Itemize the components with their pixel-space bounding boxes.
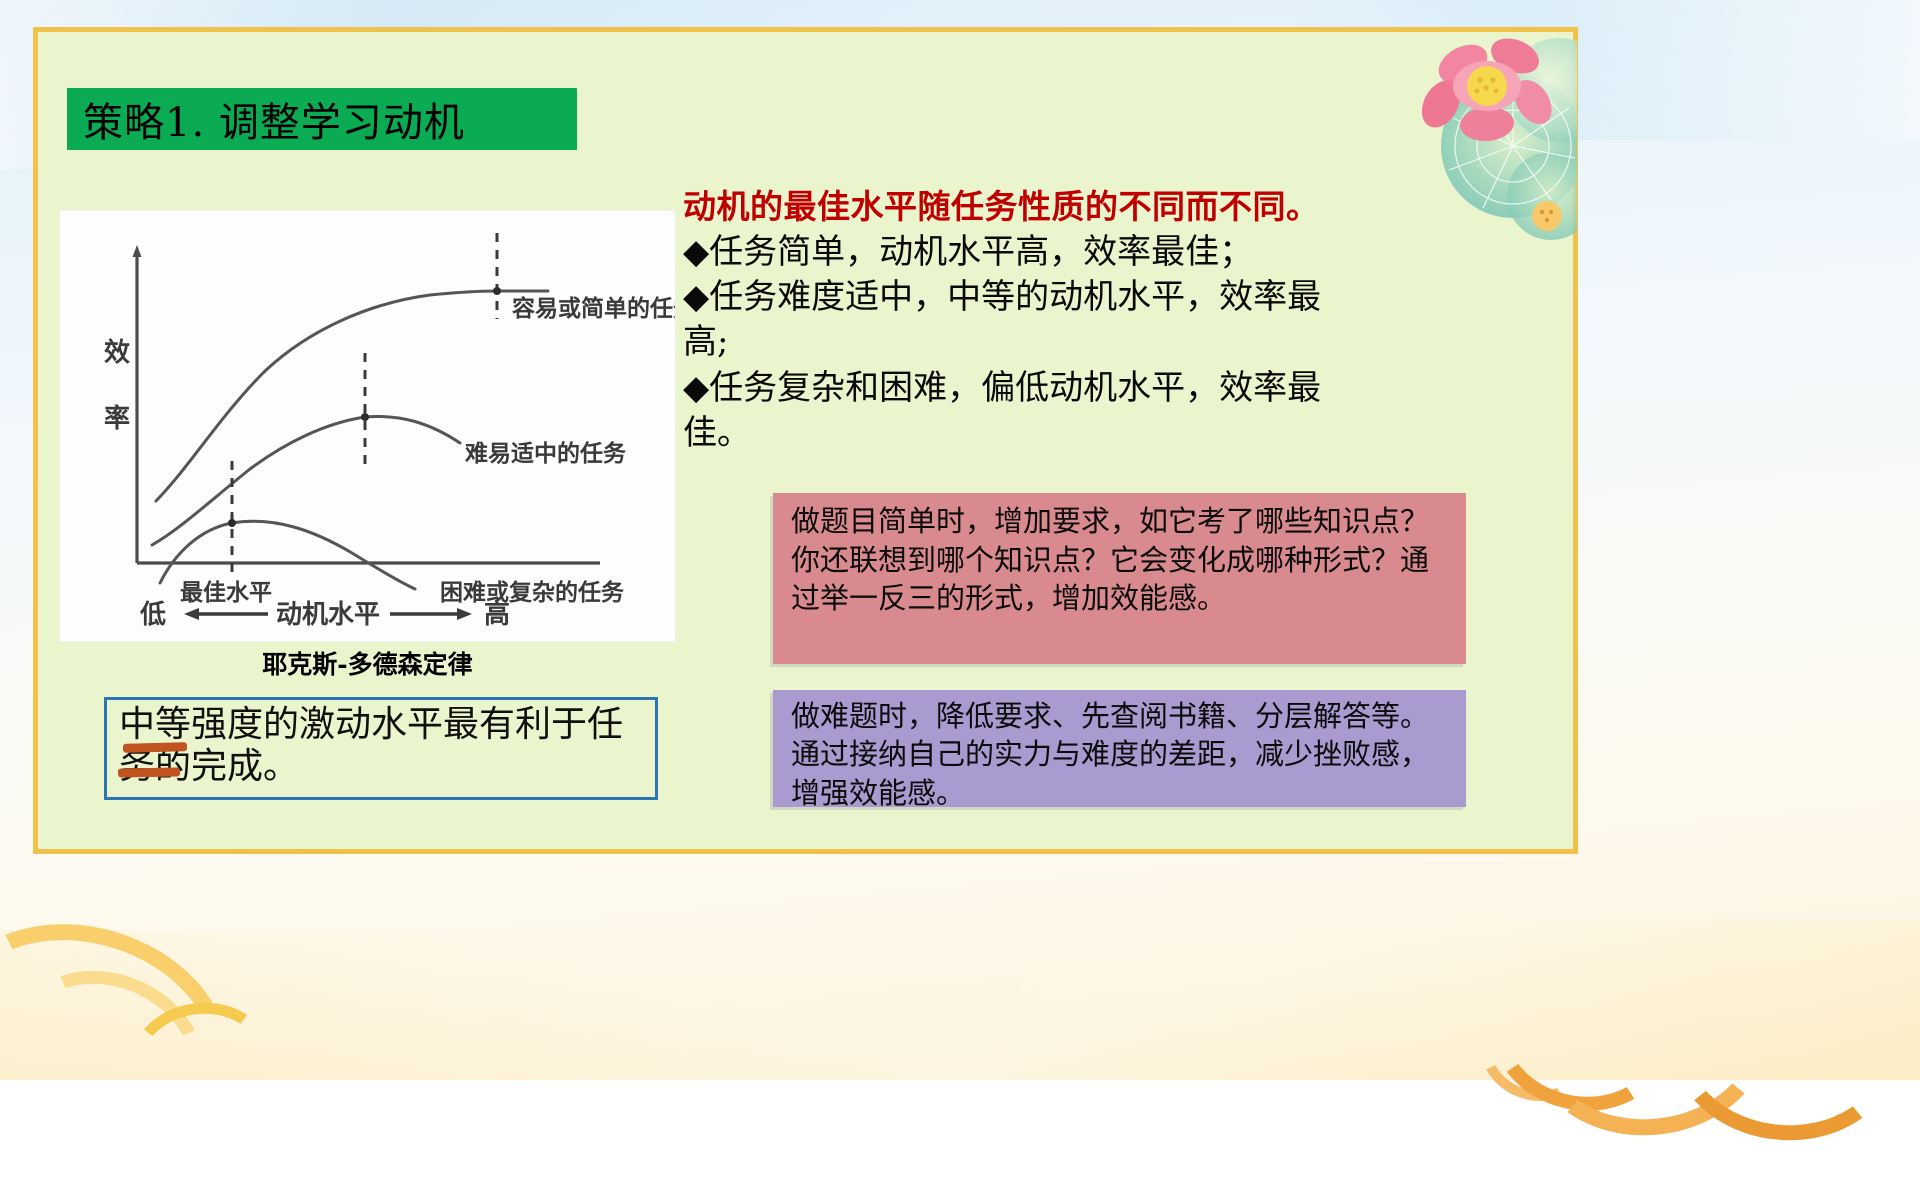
slide-title-bar: 策略1. 调整学习动机 — [67, 88, 577, 150]
slide-card: 策略1. 调整学习动机 效 率 — [33, 27, 1578, 854]
y-axis-label-char-2: 率 — [104, 403, 130, 434]
key-statement-box: 中等强度的激动水平最有利于任务的完成。 — [104, 697, 658, 800]
x-axis-high-label: 高 — [484, 599, 510, 630]
right-headline: 动机的最佳水平随任务性质的不同而不同。 — [683, 180, 1453, 228]
series-label-hard: 困难或复杂的任务 — [440, 579, 625, 606]
bullet-item-continuation: 高; — [683, 320, 1453, 365]
right-content-column: 动机的最佳水平随任务性质的不同而不同。 ◆任务简单，动机水平高，效率最佳； ◆任… — [683, 180, 1453, 456]
optimum-level-label: 最佳水平 — [180, 579, 272, 606]
bullet-item: ◆任务简单，动机水平高，效率最佳； — [683, 230, 1453, 275]
key-statement-text: 中等强度的激动水平最有利于任务的完成。 — [119, 704, 645, 789]
purple-callout-box: 做难题时，降低要求、先查阅书籍、分层解答等。通过接纳自己的实力与难度的差距，减少… — [773, 690, 1466, 807]
bullet-item: ◆任务复杂和困难，偏低动机水平，效率最 — [683, 366, 1453, 411]
purple-callout-text: 做难题时，降低要求、先查阅书籍、分层解答等。通过接纳自己的实力与难度的差距，减少… — [791, 697, 1452, 812]
series-label-medium: 难易适中的任务 — [464, 440, 627, 467]
bullet-item-continuation: 佳。 — [683, 411, 1453, 456]
yerkes-dodson-chart-svg: 效 率 容易或简单的任务 难易适中的任务 困难或复杂的任务 — [60, 211, 675, 641]
x-axis-low-label: 低 — [139, 600, 166, 630]
page-title: 策略1. 调整学习动机 — [67, 90, 465, 148]
bullet-item: ◆任务难度适中，中等的动机水平，效率最 — [683, 275, 1453, 320]
x-axis-label: 动机水平 — [276, 600, 380, 630]
chart-caption: 耶克斯-多德森定律 — [60, 645, 675, 681]
pink-callout-box: 做题目简单时，增加要求，如它考了哪些知识点？你还联想到哪个知识点？它会变化成哪种… — [773, 493, 1466, 664]
y-axis-label-char-1: 效 — [104, 337, 130, 368]
handwritten-underline-mark — [123, 742, 187, 753]
handwritten-underline-mark — [118, 767, 180, 777]
pink-callout-text: 做题目简单时，增加要求，如它考了哪些知识点？你还联想到哪个知识点？它会变化成哪种… — [791, 502, 1452, 618]
yerkes-dodson-chart-figure: 效 率 容易或简单的任务 难易适中的任务 困难或复杂的任务 — [60, 211, 675, 641]
series-label-easy: 容易或简单的任务 — [512, 295, 675, 322]
